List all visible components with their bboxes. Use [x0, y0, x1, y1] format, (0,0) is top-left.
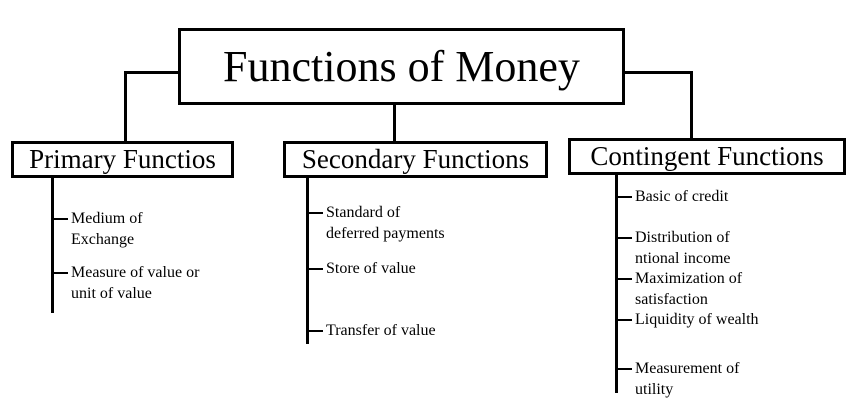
leaf-tick	[618, 368, 632, 370]
diagram-canvas: Functions of Money Primary Functios Seco…	[0, 0, 847, 405]
leaf-item-label: Distribution of ntional income	[635, 228, 825, 270]
category-node-primary-functions: Primary Functios	[11, 141, 234, 178]
category-node-label: Primary Functios	[29, 146, 216, 173]
leaf-tick	[618, 196, 632, 198]
leaf-item-label: Basic of credit	[635, 187, 825, 208]
connector-root-to-secondary-vertical	[393, 103, 396, 144]
leaf-item-label: Standard of deferred payments	[326, 203, 506, 245]
root-node-label: Functions of Money	[223, 45, 580, 89]
connector-root-to-primary-vertical	[124, 71, 127, 144]
leaf-tick	[309, 212, 323, 214]
leaf-item-label: Maximization of satisfaction	[635, 269, 825, 311]
leaf-item-label: Measurement of utility	[635, 359, 825, 401]
leaf-tick	[309, 268, 323, 270]
connector-root-to-contingent-vertical	[690, 71, 693, 141]
category-node-contingent-functions: Contingent Functions	[568, 138, 846, 175]
leaf-tick	[618, 319, 632, 321]
leaf-item-label: Transfer of value	[326, 321, 506, 342]
root-node-functions-of-money: Functions of Money	[178, 28, 625, 105]
leaf-item-label: Liquidity of wealth	[635, 310, 825, 331]
leaf-item-label: Store of value	[326, 259, 506, 280]
leaf-tick	[309, 330, 323, 332]
category-node-secondary-functions: Secondary Functions	[283, 141, 548, 178]
category-node-label: Secondary Functions	[302, 146, 529, 173]
connector-root-to-contingent-horizontal	[622, 71, 693, 74]
leaf-tick	[618, 237, 632, 239]
spine-primary-functions	[51, 177, 54, 313]
leaf-item-label: Medium of Exchange	[71, 209, 221, 251]
leaf-item-label: Measure of value or unit of value	[71, 263, 251, 305]
spine-secondary-functions	[306, 177, 309, 344]
leaf-tick	[618, 278, 632, 280]
spine-contingent-functions	[615, 174, 618, 393]
category-node-label: Contingent Functions	[590, 143, 823, 170]
connector-root-to-primary-horizontal	[124, 71, 181, 74]
leaf-tick	[54, 218, 68, 220]
leaf-tick	[54, 272, 68, 274]
